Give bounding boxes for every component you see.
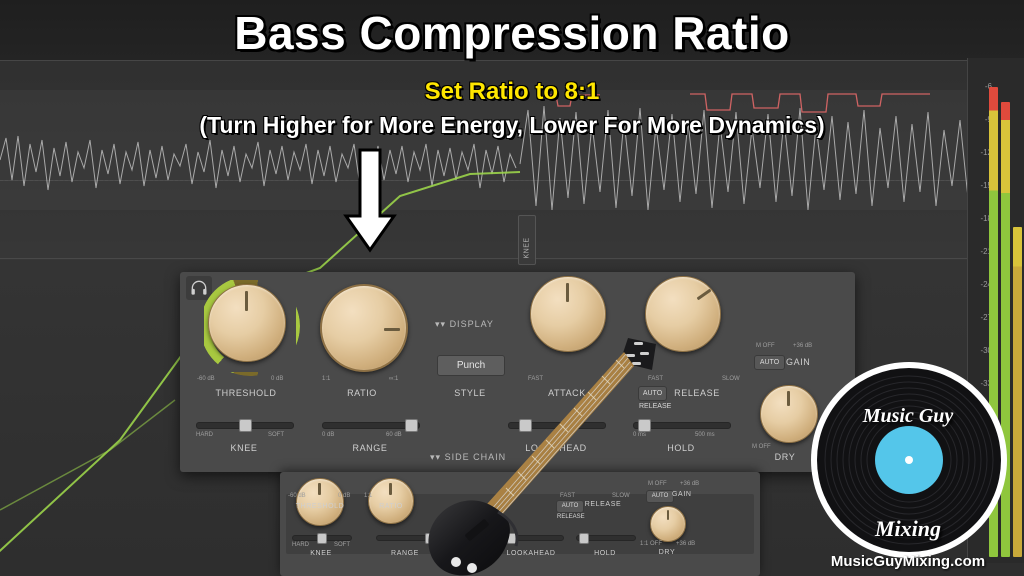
release-max-label: SLOW — [722, 376, 740, 382]
threshold-knob-2[interactable] — [296, 478, 344, 526]
range-label: RANGE — [322, 443, 418, 453]
display-label: DISPLAY — [450, 319, 494, 329]
website-label: MusicGuyMixing.com — [808, 553, 1008, 570]
dry-min-label: M OFF — [752, 444, 771, 450]
meter-bar-gr — [1013, 227, 1022, 557]
knee-2-max-label: SOFT — [334, 542, 350, 548]
gain-2-label: GAIN — [672, 491, 704, 498]
range-slider[interactable] — [322, 422, 420, 429]
bass-guitar-image — [420, 330, 660, 576]
threshold-min-label: -60 dB — [197, 376, 215, 382]
logo-line-2: Mixing — [810, 516, 1006, 542]
range-slider-handle[interactable] — [405, 419, 418, 432]
screenshot-root: -6 -9 -12 -15 -18 -21 -24 -27 -30 -33 -3… — [0, 0, 1024, 576]
dry-label: DRY — [762, 452, 808, 462]
knee-tab-label: KNEE — [524, 217, 531, 259]
ratio-2-label: RATIO — [366, 503, 416, 510]
threshold-2-min-label: -60 dB — [288, 493, 306, 499]
knee-2-label: KNEE — [292, 550, 350, 557]
dry-2-max-label: +36 dB — [676, 541, 695, 547]
ratio-knob-2[interactable] — [368, 478, 414, 524]
chevron-down-icon: ▾▾ — [435, 319, 446, 329]
threshold-max-label: 0 dB — [271, 376, 283, 382]
knee-slider[interactable] — [196, 422, 294, 429]
knee-slider-2-handle[interactable] — [317, 533, 327, 544]
down-arrow-icon — [340, 146, 400, 256]
knee-slider-handle[interactable] — [239, 419, 252, 432]
gain-2-max-label: +36 dB — [680, 481, 699, 487]
threshold-2-max-label: 0 dB — [338, 493, 350, 499]
threshold-label: THRESHOLD — [200, 388, 292, 398]
knee-slider-2[interactable] — [292, 535, 352, 541]
display-toggle[interactable]: ▾▾ DISPLAY — [435, 319, 494, 330]
gain-min-label: M OFF — [756, 343, 775, 349]
threshold-knob[interactable] — [208, 284, 286, 362]
logo-line-1: Music Guy — [810, 405, 1006, 428]
ratio-label: RATIO — [316, 388, 408, 398]
knee-min-label: HARD — [196, 432, 213, 438]
hold-max-label: 500 ms — [695, 432, 715, 438]
page-title: Bass Compression Ratio — [0, 6, 1024, 60]
knee-tab[interactable]: KNEE — [518, 215, 536, 265]
threshold-2-label: THRESHOLD — [292, 503, 348, 510]
ratio-max-label: ∞:1 — [389, 376, 398, 382]
ratio-2-min-label: 1:1 — [364, 493, 372, 499]
ratio-knob[interactable] — [320, 284, 408, 372]
knee-label: KNEE — [196, 443, 292, 453]
release-label: RELEASE — [660, 388, 734, 398]
knee-2-min-label: HARD — [292, 542, 309, 548]
gain-max-label: +36 dB — [793, 343, 812, 349]
ratio-min-label: 1:1 — [322, 376, 330, 382]
auto-gain-button[interactable]: AUTO — [754, 355, 785, 370]
subtitle: Set Ratio to 8:1 — [0, 78, 1024, 106]
range-max-label: 60 dB — [386, 432, 402, 438]
subtitle-secondary: (Turn Higher for More Energy, Lower For … — [0, 112, 1024, 139]
knee-max-label: SOFT — [268, 432, 284, 438]
range-min-label: 0 dB — [322, 432, 334, 438]
